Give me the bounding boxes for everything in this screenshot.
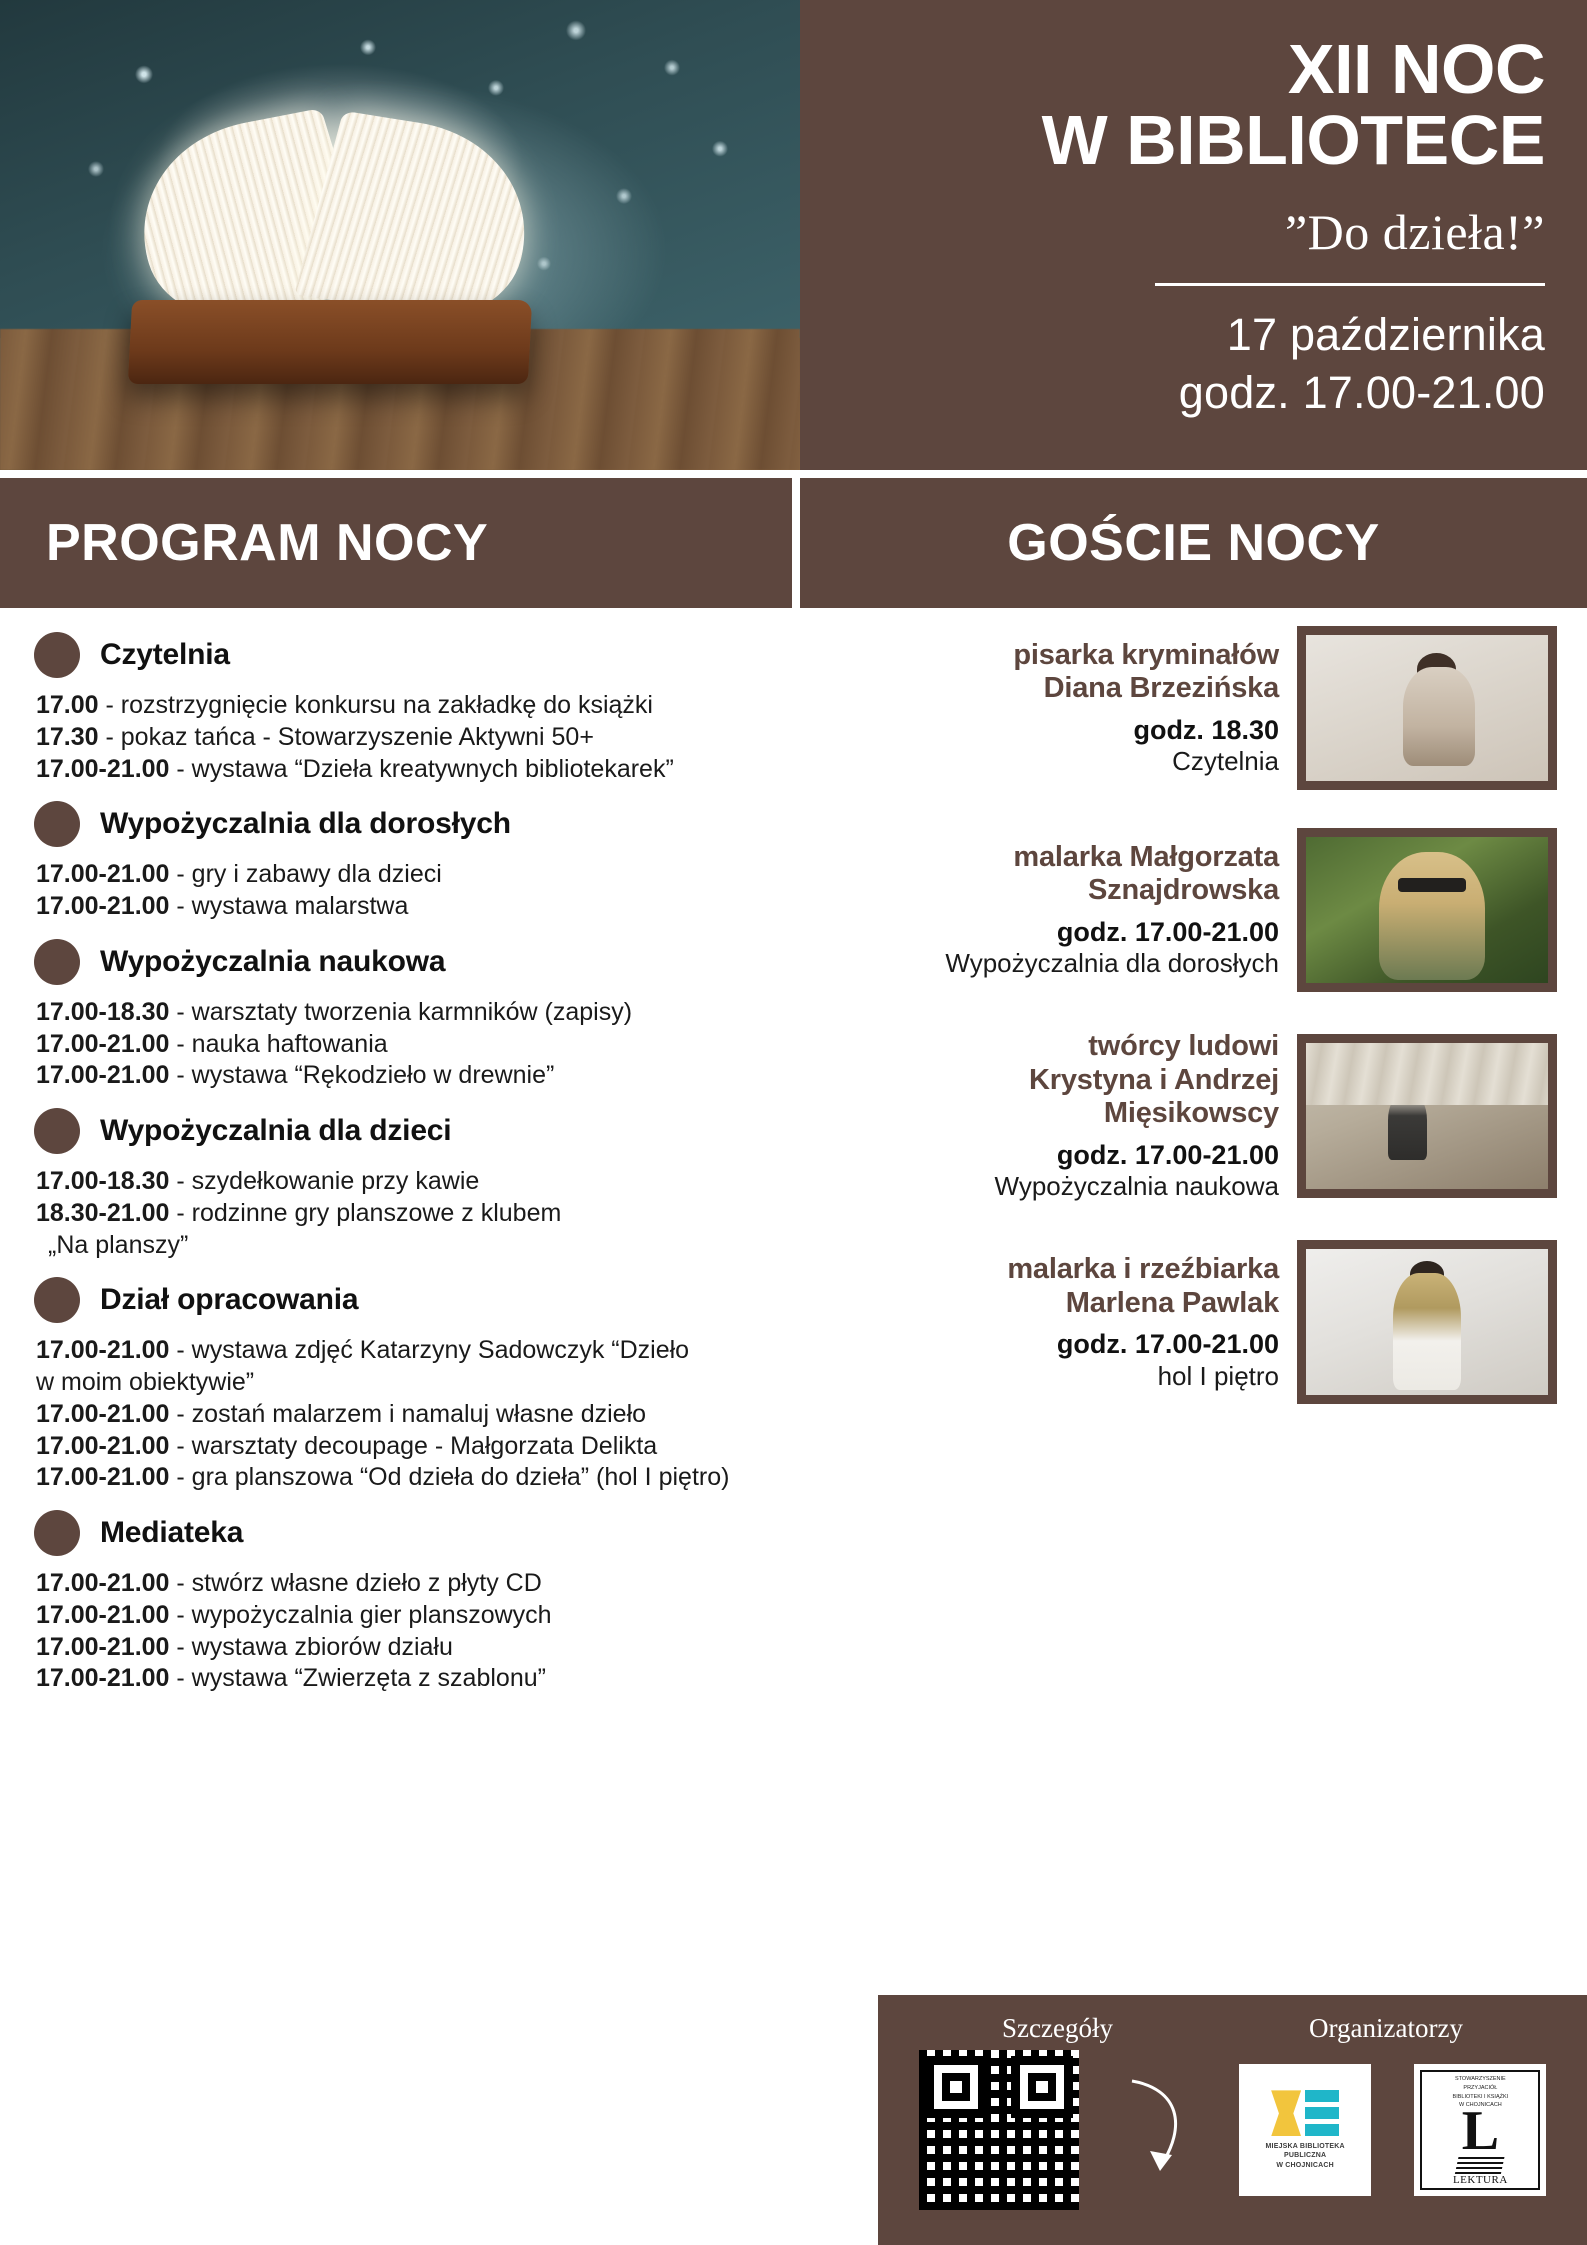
program-line-desc: - rodzinne gry planszowe z klubem (169, 1199, 561, 1227)
guest-time: godz. 17.00-21.00 (995, 1139, 1279, 1171)
guest-role: malarka i rzeźbiarka (1007, 1253, 1279, 1287)
details-label: Szczegóły (1002, 2013, 1113, 2044)
guest-role: malarka Małgorzata (945, 841, 1279, 875)
program-line-desc: - zostań malarzem i namaluj własne dzieł… (169, 1400, 646, 1428)
program-line-desc: - nauka haftowania (169, 1030, 387, 1058)
program-line-time: 17.00-21.00 (36, 892, 169, 920)
program-item-name: Wypożyczalnia dla dzieci (100, 1114, 451, 1148)
bullet-dot-icon (34, 1510, 80, 1556)
program-column: Czytelnia17.00 - rozstrzygnięcie konkurs… (0, 608, 870, 1711)
program-line-time: 17.00-21.00 (36, 1633, 169, 1661)
footer-labels: Szczegóły Organizatorzy (904, 2013, 1561, 2044)
event-hours: godz. 17.00-21.00 (1179, 364, 1545, 423)
program-line: 17.00-21.00 - wystawa zbiorów działu (36, 1632, 850, 1664)
bullet-dot-icon (34, 1277, 80, 1323)
program-line-desc: - pokaz tańca - Stowarzyszenie Aktywni 5… (99, 723, 594, 751)
guest-photo (1297, 1034, 1557, 1198)
program-line-desc: - wystawa malarstwa (169, 892, 408, 920)
program-line: 17.00-21.00 - wystawa “Rękodzieło w drew… (36, 1060, 850, 1092)
program-line-desc: - wystawa “Zwierzęta z szablonu” (169, 1664, 546, 1692)
program-item-lines: 17.00-21.00 - stwórz własne dzieło z pły… (34, 1568, 850, 1695)
guest-card: malarka i rzeźbiarkaMarlena Pawlakgodz. … (888, 1240, 1557, 1404)
guest-photo (1297, 828, 1557, 992)
program-line-time: 17.00-21.00 (36, 860, 169, 888)
program-line-time: 17.00-21.00 (36, 1601, 169, 1629)
poster-subtitle: ”Do dzieła!” (1285, 203, 1545, 261)
program-line-time: 18.30-21.00 (36, 1199, 169, 1227)
guest-role: twórcy ludowi (995, 1030, 1279, 1064)
program-line: „Na planszy” (36, 1230, 850, 1262)
guest-place: Wypożyczalnia dla dorosłych (945, 948, 1279, 979)
lektura-logo-word: LEKTURA (1453, 2174, 1508, 2186)
program-line-desc: - wypożyczalnia gier planszowych (169, 1601, 551, 1629)
program-item-header: Wypożyczalnia naukowa (34, 939, 850, 985)
program-item: Wypożyczalnia dla dorosłych17.00-21.00 -… (34, 801, 850, 923)
program-line: 17.00-21.00 - warsztaty decoupage - Małg… (36, 1431, 850, 1463)
program-line-desc: - warsztaty decoupage - Małgorzata Delik… (169, 1432, 657, 1460)
program-line-desc: - wystawa zbiorów działu (169, 1633, 452, 1661)
program-item: Czytelnia17.00 - rozstrzygnięcie konkurs… (34, 632, 850, 785)
program-line: 17.00-21.00 - wystawa zdjęć Katarzyny Sa… (36, 1335, 850, 1367)
program-line: 17.00-21.00 - wystawa “Dzieła kreatywnyc… (36, 754, 850, 786)
event-date: 17 października (1227, 306, 1545, 365)
qr-code[interactable] (919, 2050, 1079, 2210)
program-line-time: 17.00-21.00 (36, 1336, 169, 1364)
poster-body: Czytelnia17.00 - rozstrzygnięcie konkurs… (0, 608, 1587, 1711)
program-item-lines: 17.00-21.00 - gry i zabawy dla dzieci17.… (34, 859, 850, 923)
program-line-time: 17.00-21.00 (36, 1400, 169, 1428)
program-line-desc: - gra planszowa “Od dzieła do dzieła” (h… (169, 1463, 729, 1491)
program-item-name: Dział opracowania (100, 1283, 358, 1317)
program-line: 17.30 - pokaz tańca - Stowarzyszenie Akt… (36, 722, 850, 754)
guest-place: Czytelnia (1013, 746, 1279, 777)
program-line-desc: - wystawa “Dzieła kreatywnych biblioteka… (169, 755, 673, 783)
guest-role: pisarka kryminałów (1013, 639, 1279, 673)
program-line-desc: w moim obiektywie” (36, 1368, 254, 1396)
guest-photo (1297, 626, 1557, 790)
program-item-header: Dział opracowania (34, 1277, 850, 1323)
program-line-time: 17.00-18.30 (36, 1167, 169, 1195)
poster-title-line2: W BIBLIOTECE (1042, 105, 1545, 176)
guest-time: godz. 18.30 (1013, 714, 1279, 746)
hero-book-photo (0, 0, 800, 470)
mbp-logo-line1: MIEJSKA BIBLIOTEKA PUBLICZNA (1245, 2142, 1365, 2160)
guest-place: Wypożyczalnia naukowa (995, 1171, 1279, 1202)
program-line-desc: - rozstrzygnięcie konkursu na zakładkę d… (99, 691, 653, 719)
organizers-label: Organizatorzy (1309, 2013, 1463, 2044)
guests-band-title: GOŚCIE NOCY (1007, 513, 1379, 573)
program-line: 17.00-21.00 - gry i zabawy dla dzieci (36, 859, 850, 891)
curved-arrow-icon (1122, 2075, 1196, 2185)
poster-title-line1: XII NOC (1288, 34, 1545, 105)
program-item-lines: 17.00-18.30 - warsztaty tworzenia karmni… (34, 997, 850, 1092)
program-line-desc: - stwórz własne dzieło z płyty CD (169, 1569, 541, 1597)
program-line-time: 17.00-21.00 (36, 1432, 169, 1460)
program-item-header: Wypożyczalnia dla dorosłych (34, 801, 850, 847)
program-line-desc: „Na planszy” (48, 1231, 188, 1259)
program-line: 17.00-21.00 - zostań malarzem i namaluj … (36, 1399, 850, 1431)
guest-role: Mięsikowscy (995, 1097, 1279, 1131)
guests-band: GOŚCIE NOCY (800, 478, 1587, 608)
mbp-logo-line2: W CHOJNICACH (1276, 2161, 1334, 2170)
program-item-header: Mediateka (34, 1510, 850, 1556)
mbp-yellow-shape (1271, 2090, 1301, 2136)
guest-place: hol I piętro (1007, 1361, 1279, 1392)
logo-mbp-chojnice: MIEJSKA BIBLIOTEKA PUBLICZNA W CHOJNICAC… (1239, 2064, 1371, 2196)
program-line: 17.00-21.00 - wystawa “Zwierzęta z szabl… (36, 1663, 850, 1695)
program-line: 17.00 - rozstrzygnięcie konkursu na zakł… (36, 690, 850, 722)
program-line-desc: - wystawa zdjęć Katarzyny Sadowczyk “Dzi… (169, 1336, 689, 1364)
program-line: 17.00-18.30 - warsztaty tworzenia karmni… (36, 997, 850, 1029)
program-item-name: Wypożyczalnia naukowa (100, 945, 445, 979)
program-item-name: Czytelnia (100, 638, 230, 672)
program-line-time: 17.00-21.00 (36, 1463, 169, 1491)
program-band: PROGRAM NOCY (0, 478, 792, 608)
program-line-time: 17.00-21.00 (36, 1061, 169, 1089)
program-item: Wypożyczalnia naukowa17.00-18.30 - warsz… (34, 939, 850, 1092)
logo-lektura: STOWARZYSZENIE PRZYJACIÓŁ BIBLIOTEKI I K… (1414, 2064, 1546, 2196)
guest-role: Krystyna i Andrzej (995, 1064, 1279, 1098)
program-line: 17.00-18.30 - szydełkowanie przy kawie (36, 1166, 850, 1198)
mbp-blue-bars (1305, 2090, 1339, 2136)
program-item: Wypożyczalnia dla dzieci17.00-18.30 - sz… (34, 1108, 850, 1261)
program-line-time: 17.00-18.30 (36, 998, 169, 1026)
guest-text-block: malarka i rzeźbiarkaMarlena Pawlakgodz. … (1007, 1253, 1279, 1392)
guest-time: godz. 17.00-21.00 (945, 916, 1279, 948)
bullet-dot-icon (34, 1108, 80, 1154)
program-line-time: 17.00-21.00 (36, 1569, 169, 1597)
program-line-desc: - warsztaty tworzenia karmników (zapisy) (169, 998, 632, 1026)
bullet-dot-icon (34, 939, 80, 985)
program-item: Mediateka17.00-21.00 - stwórz własne dzi… (34, 1510, 850, 1695)
program-line: w moim obiektywie” (36, 1367, 850, 1399)
program-line-desc: - wystawa “Rękodzieło w drewnie” (169, 1061, 554, 1089)
guest-time: godz. 17.00-21.00 (1007, 1328, 1279, 1360)
guest-text-block: pisarka kryminałówDiana Brzezińskagodz. … (1013, 639, 1279, 778)
program-item-name: Mediateka (100, 1516, 243, 1550)
program-item-lines: 17.00-21.00 - wystawa zdjęć Katarzyny Sa… (34, 1335, 850, 1494)
guest-card: twórcy ludowiKrystyna i AndrzejMięsikows… (888, 1030, 1557, 1202)
section-header-band: PROGRAM NOCY GOŚCIE NOCY (0, 478, 1587, 608)
guest-card: pisarka kryminałówDiana Brzezińskagodz. … (888, 626, 1557, 790)
bullet-dot-icon (34, 801, 80, 847)
title-divider (1155, 283, 1545, 286)
book-cover (128, 300, 532, 384)
program-item-lines: 17.00 - rozstrzygnięcie konkursu na zakł… (34, 690, 850, 785)
guest-text-block: twórcy ludowiKrystyna i AndrzejMięsikows… (995, 1030, 1279, 1202)
program-item-header: Czytelnia (34, 632, 850, 678)
guest-role: Sznajdrowska (945, 874, 1279, 908)
program-line: 17.00-21.00 - stwórz własne dzieło z pły… (36, 1568, 850, 1600)
guest-photo (1297, 1240, 1557, 1404)
lektura-letter-l: L (1462, 2109, 1499, 2154)
program-line-desc: - gry i zabawy dla dzieci (169, 860, 441, 888)
program-band-title: PROGRAM NOCY (46, 513, 488, 573)
program-line-time: 17.00-21.00 (36, 1030, 169, 1058)
program-item: Dział opracowania17.00-21.00 - wystawa z… (34, 1277, 850, 1494)
guest-role: Diana Brzezińska (1013, 672, 1279, 706)
bullet-dot-icon (34, 632, 80, 678)
poster-footer: Szczegóły Organizatorzy MIEJSKA BIBLIOTE… (878, 1995, 1587, 2245)
footer-row: MIEJSKA BIBLIOTEKA PUBLICZNA W CHOJNICAC… (904, 2050, 1561, 2210)
guest-text-block: malarka MałgorzataSznajdrowskagodz. 17.0… (945, 841, 1279, 980)
program-item-lines: 17.00-18.30 - szydełkowanie przy kawie18… (34, 1166, 850, 1261)
guest-card: malarka MałgorzataSznajdrowskagodz. 17.0… (888, 828, 1557, 992)
program-line-time: 17.00 (36, 691, 99, 719)
program-line-desc: - szydełkowanie przy kawie (169, 1167, 479, 1195)
mbp-logo-mark (1271, 2090, 1339, 2136)
program-line-time: 17.00-21.00 (36, 755, 169, 783)
header-title-block: XII NOC W BIBLIOTECE ”Do dzieła!” 17 paź… (800, 0, 1587, 470)
program-line-time: 17.30 (36, 723, 99, 751)
lektura-book-icon (1455, 2154, 1505, 2174)
band-gap (792, 478, 800, 608)
guest-role: Marlena Pawlak (1007, 1287, 1279, 1321)
lektura-logo-title: STOWARZYSZENIE (1455, 2076, 1506, 2083)
guests-column: pisarka kryminałówDiana Brzezińskagodz. … (870, 608, 1587, 1711)
program-item-header: Wypożyczalnia dla dzieci (34, 1108, 850, 1154)
program-line: 17.00-21.00 - nauka haftowania (36, 1029, 850, 1061)
program-line-time: 17.00-21.00 (36, 1664, 169, 1692)
program-line: 17.00-21.00 - wypożyczalnia gier planszo… (36, 1600, 850, 1632)
poster-header: XII NOC W BIBLIOTECE ”Do dzieła!” 17 paź… (0, 0, 1587, 470)
program-line: 18.30-21.00 - rodzinne gry planszowe z k… (36, 1198, 850, 1230)
program-line: 17.00-21.00 - wystawa malarstwa (36, 891, 850, 923)
lektura-logo-sub1: PRZYJACIÓŁ (1463, 2085, 1497, 2092)
program-item-name: Wypożyczalnia dla dorosłych (100, 807, 511, 841)
program-line: 17.00-21.00 - gra planszowa “Od dzieła d… (36, 1462, 850, 1494)
